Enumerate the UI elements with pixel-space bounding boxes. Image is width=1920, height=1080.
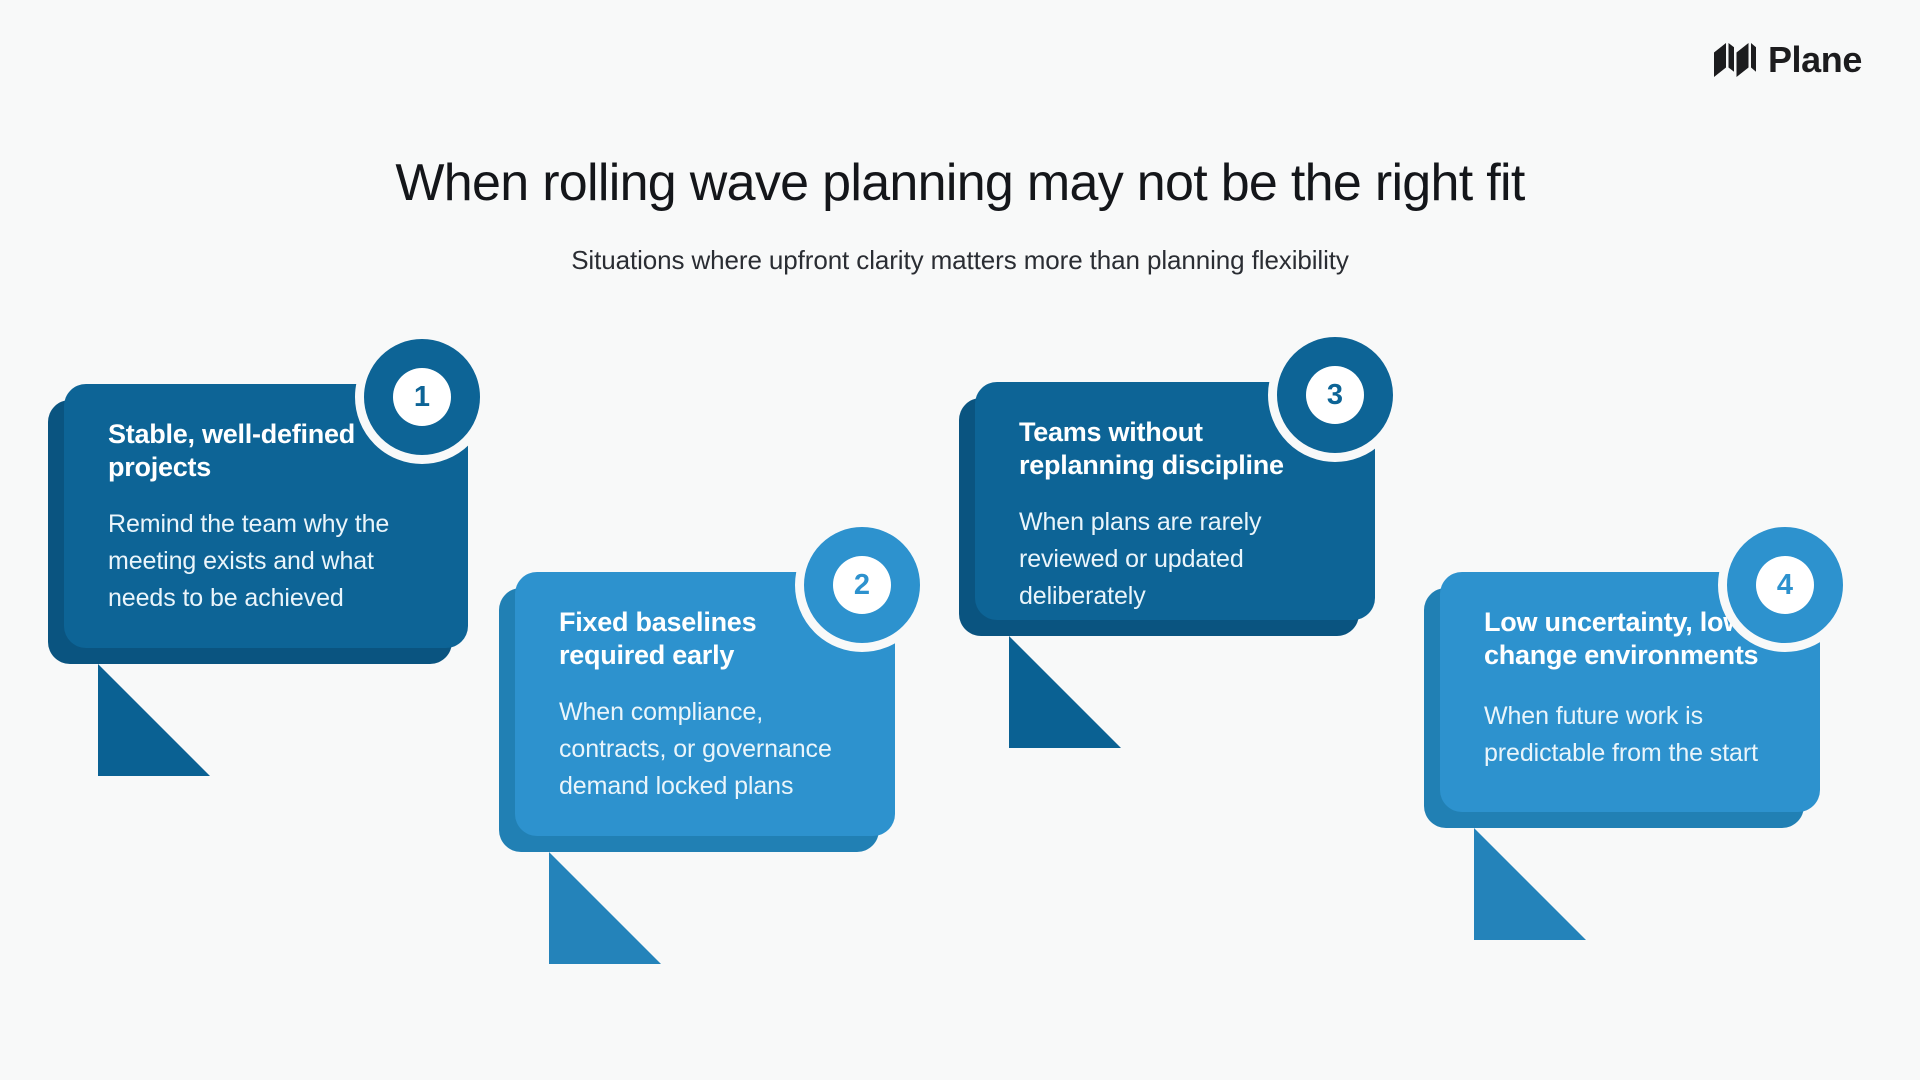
step-badge-1[interactable]: 1 <box>355 330 489 464</box>
infographic-canvas: Plane When rolling wave planning may not… <box>0 0 1920 1080</box>
card-description: When compliance, contracts, or governanc… <box>559 694 855 805</box>
bubble-tail-3 <box>1009 636 1121 748</box>
bubble-tail-4 <box>1474 828 1586 940</box>
card-description: When plans are rarely reviewed or update… <box>1019 504 1335 615</box>
step-badge-4[interactable]: 4 <box>1718 518 1852 652</box>
step-number: 4 <box>1756 556 1814 614</box>
brand-name: Plane <box>1768 42 1862 78</box>
step-number: 3 <box>1306 366 1364 424</box>
brand-logo: Plane <box>1714 42 1862 78</box>
page-subtitle: Situations where upfront clarity matters… <box>0 245 1920 276</box>
card-description: Remind the team why the meeting exists a… <box>108 506 428 617</box>
step-badge-2[interactable]: 2 <box>795 518 929 652</box>
plane-logo-icon <box>1714 43 1756 77</box>
step-badge-3[interactable]: 3 <box>1268 328 1402 462</box>
bubble-tail-2 <box>549 852 661 964</box>
bubble-tail-1 <box>98 664 210 776</box>
page-title: When rolling wave planning may not be th… <box>0 154 1920 212</box>
card-description: When future work is predictable from the… <box>1484 698 1780 772</box>
step-number: 1 <box>393 368 451 426</box>
step-number: 2 <box>833 556 891 614</box>
